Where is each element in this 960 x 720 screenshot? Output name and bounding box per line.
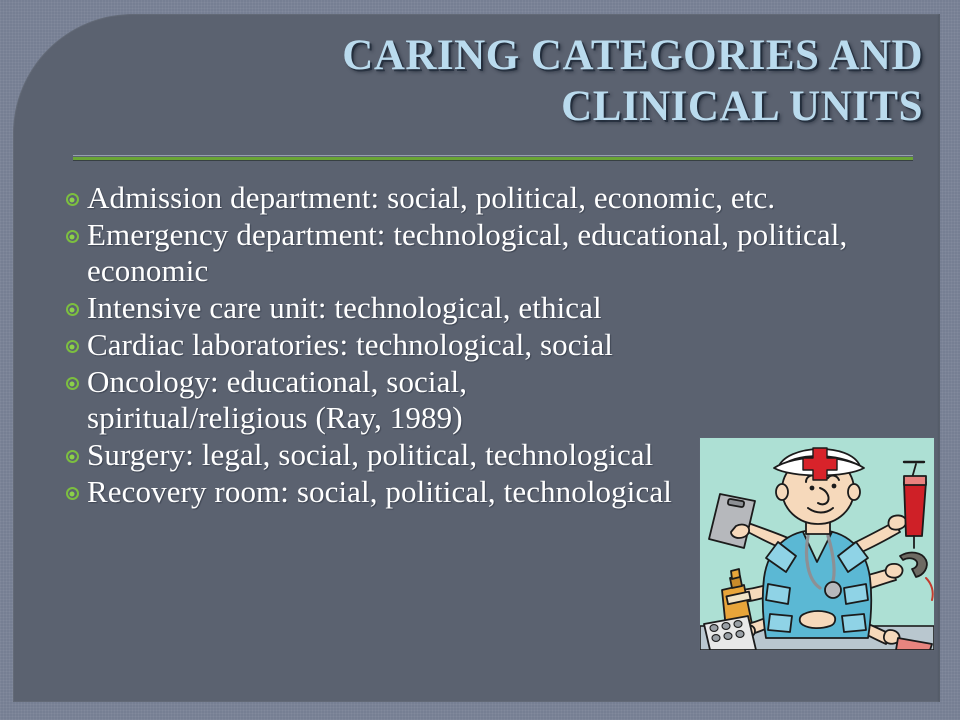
list-item-label: Oncology: educational, social, spiritual…: [83, 364, 687, 436]
slide: CARING CATEGORIES AND CLINICAL UNITS Adm…: [0, 0, 960, 720]
list-item: Intensive care unit: technological, ethi…: [61, 290, 891, 326]
title-divider: [73, 155, 913, 160]
slide-panel: CARING CATEGORIES AND CLINICAL UNITS Adm…: [13, 14, 940, 702]
divider-highlight: [73, 155, 913, 156]
title-line-2: CLINICAL UNITS: [163, 81, 923, 132]
list-item-label: Recovery room: social, political, techno…: [83, 474, 687, 510]
target-bullet-icon: [61, 340, 83, 353]
list-item-label: Admission department: social, political,…: [83, 180, 891, 216]
target-bullet-icon: [61, 377, 83, 390]
divider-green-line: [73, 157, 913, 160]
target-bullet-icon: [61, 193, 83, 206]
page-title: CARING CATEGORIES AND CLINICAL UNITS: [163, 30, 923, 132]
nurse-illustration: [699, 437, 935, 651]
list-item-label: Surgery: legal, social, political, techn…: [83, 437, 687, 473]
list-item-label: Cardiac laboratories: technological, soc…: [83, 327, 891, 363]
title-line-1: CARING CATEGORIES AND: [163, 30, 923, 81]
list-item-label: Intensive care unit: technological, ethi…: [83, 290, 891, 326]
target-bullet-icon: [61, 230, 83, 243]
target-bullet-icon: [61, 450, 83, 463]
list-item: Cardiac laboratories: technological, soc…: [61, 327, 891, 363]
list-item-label: Emergency department: technological, edu…: [83, 217, 891, 289]
list-item: Admission department: social, political,…: [61, 180, 891, 216]
target-bullet-icon: [61, 303, 83, 316]
target-bullet-icon: [61, 487, 83, 500]
list-item: Oncology: educational, social, spiritual…: [61, 364, 891, 436]
list-item: Emergency department: technological, edu…: [61, 217, 891, 289]
